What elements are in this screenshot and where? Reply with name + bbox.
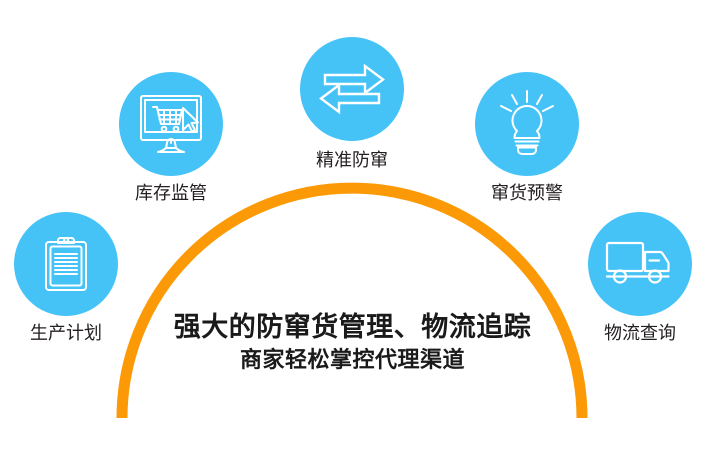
feature-node-logistics-query[interactable]: 物流查询 [588,212,692,344]
monitor-cart-icon [136,91,206,157]
bubble-precise-anti-diversion [300,37,404,141]
clipboard-icon [34,232,98,296]
node-label-diversion-alert: 窜货预警 [475,182,579,204]
lightbulb-icon [496,89,558,159]
bubble-logistics-query [588,212,692,316]
truck-icon [604,238,676,290]
feature-node-precise-anti-diversion[interactable]: 精准防窜 [300,37,404,171]
node-label-inventory-supervision: 库存监管 [119,182,223,204]
headline-sub-text: 商家轻松掌控代理渠道 [0,346,705,374]
feature-node-diversion-alert[interactable]: 窜货预警 [475,72,579,204]
promo-banner: 生产计划 [0,0,705,463]
node-label-precise-anti-diversion: 精准防窜 [300,149,404,171]
bubble-diversion-alert [475,72,579,176]
two-way-arrows-icon [317,60,387,118]
bubble-inventory-supervision [119,72,223,176]
feature-node-inventory-supervision[interactable]: 库存监管 [119,72,223,204]
arc-path [122,188,582,418]
bubble-production-plan [14,212,118,316]
feature-node-production-plan[interactable]: 生产计划 [14,212,118,344]
node-label-production-plan: 生产计划 [14,322,118,344]
node-label-logistics-query: 物流查询 [588,322,692,344]
